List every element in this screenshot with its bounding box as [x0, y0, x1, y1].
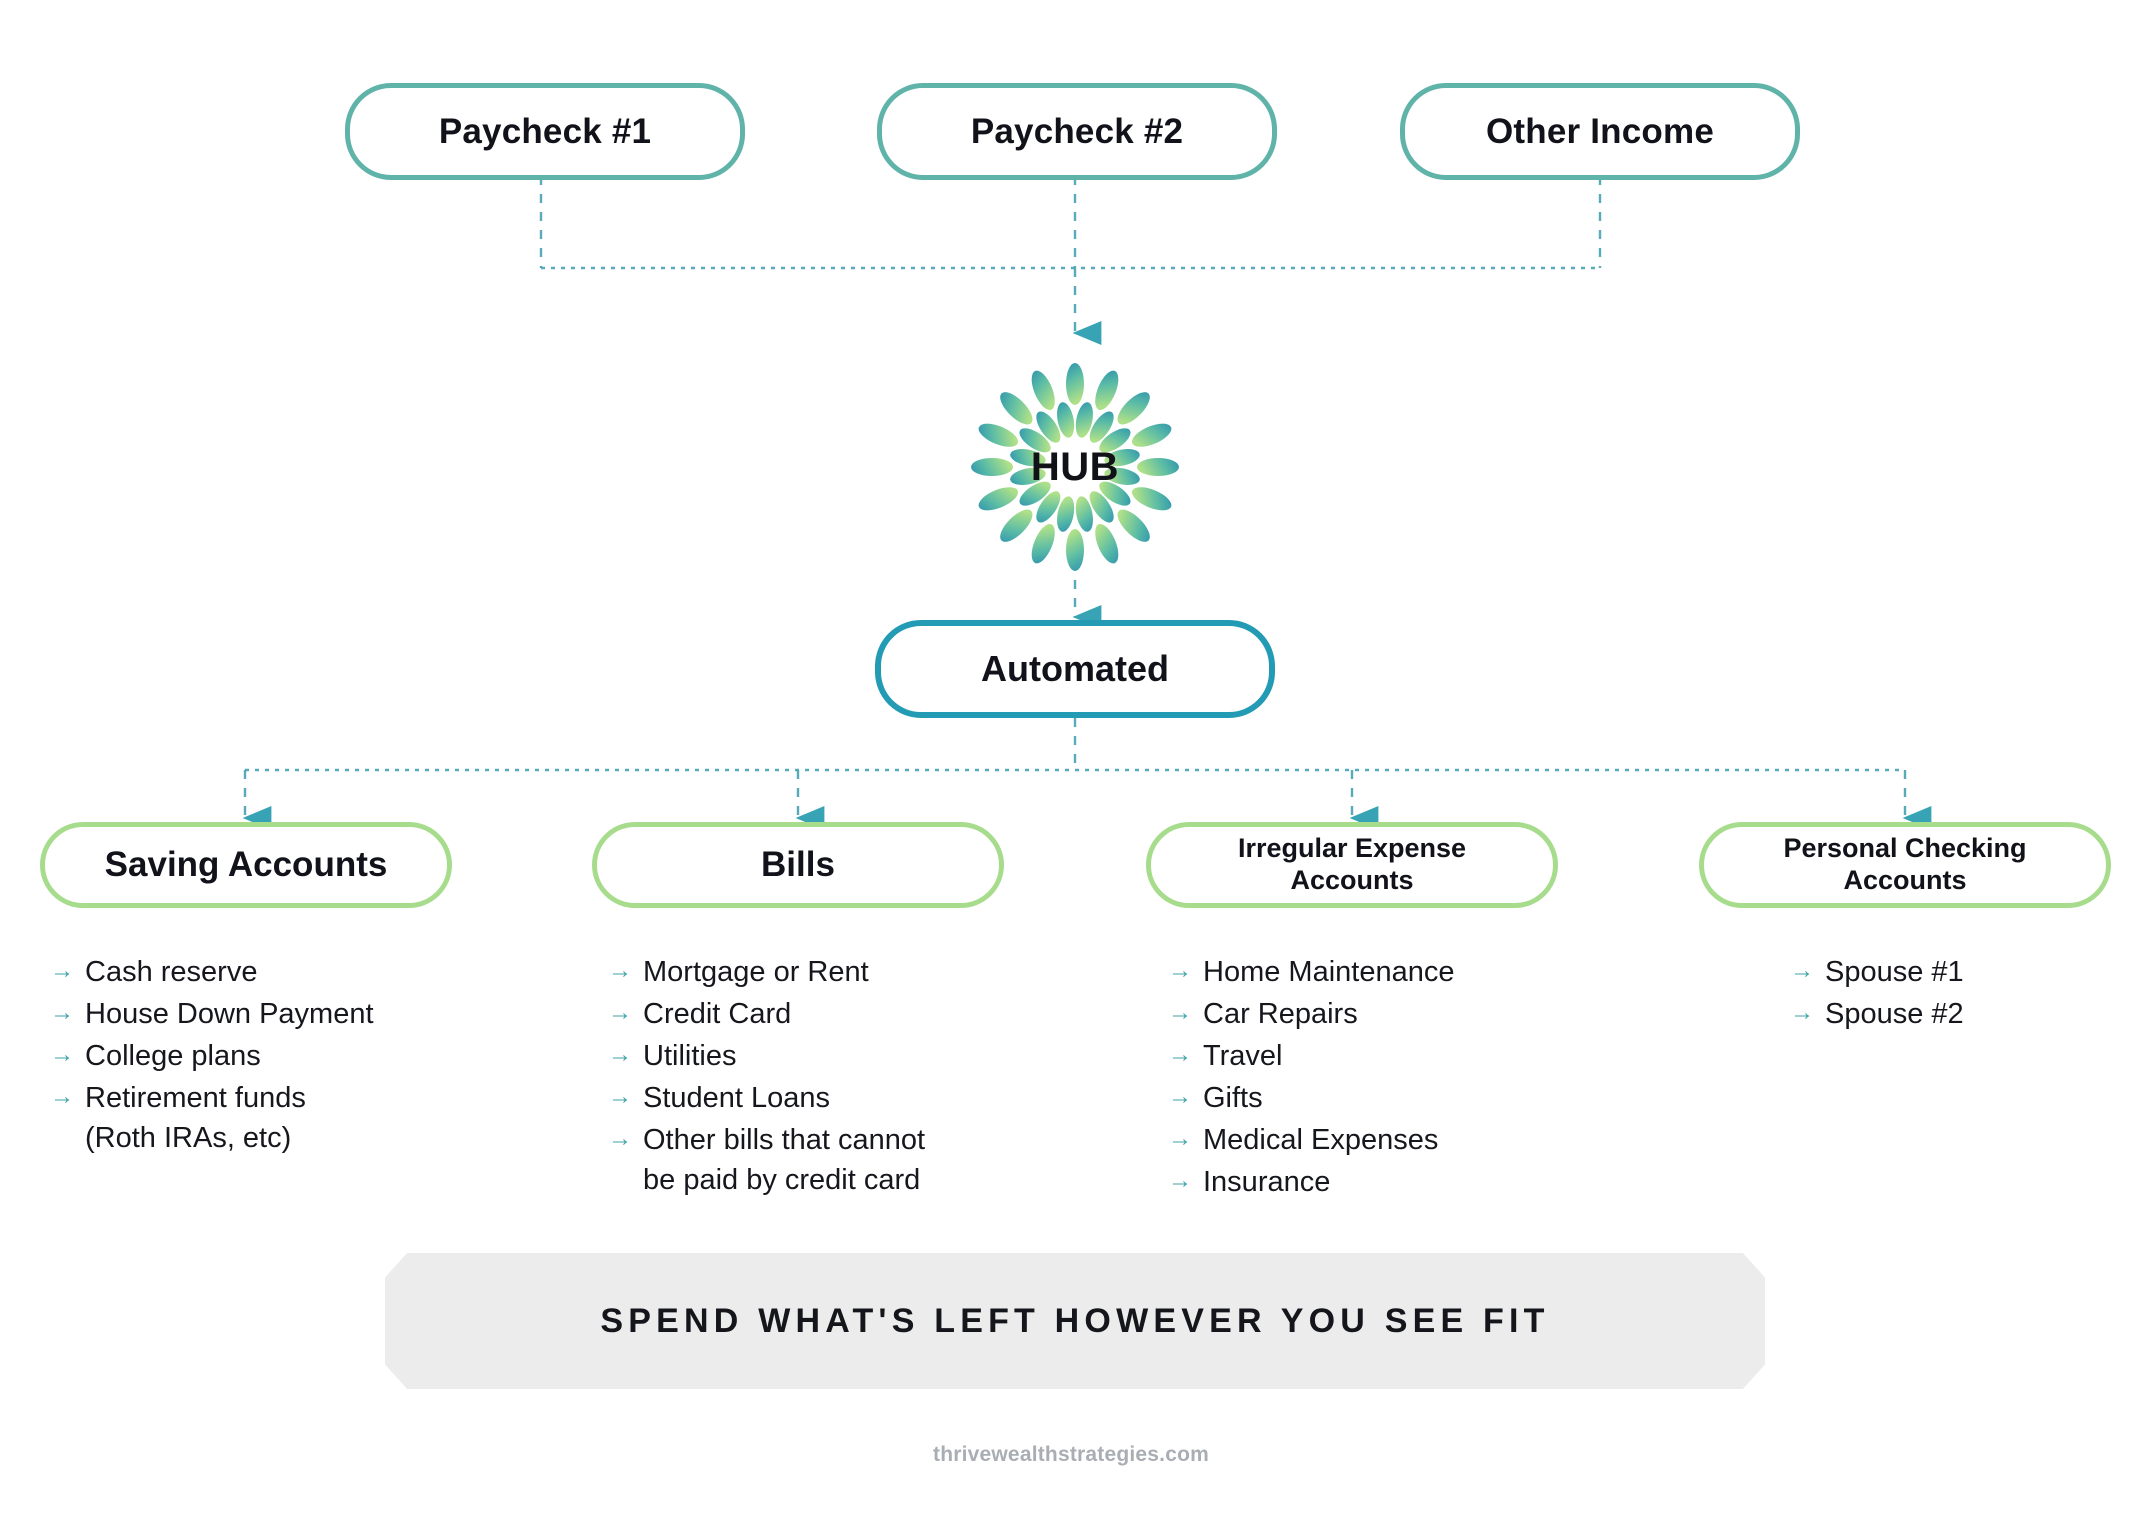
list-item: → College plans: [50, 1036, 470, 1076]
arrow-right-icon: →: [50, 1078, 74, 1115]
income-box-label: Paycheck #1: [439, 111, 651, 152]
automated-label: Automated: [981, 648, 1169, 690]
arrow-right-icon: →: [1168, 1078, 1192, 1115]
bucket-list-bills: → Mortgage or Rent → Credit Card → Utili…: [608, 952, 1038, 1202]
list-item: → House Down Payment: [50, 994, 470, 1034]
list-item: → Retirement funds (Roth IRAs, etc): [50, 1078, 470, 1158]
hub-node[interactable]: HUB: [970, 362, 1180, 572]
arrow-right-icon: →: [1168, 994, 1192, 1031]
list-item: → Spouse #2: [1790, 994, 2120, 1034]
arrow-right-icon: →: [50, 1036, 74, 1073]
arrow-right-icon: →: [608, 1120, 632, 1157]
bucket-label: Personal Checking Accounts: [1783, 833, 2026, 897]
list-item: → Utilities: [608, 1036, 1038, 1076]
bucket-box-personal-checking-accounts[interactable]: Personal Checking Accounts: [1699, 822, 2111, 908]
list-item: → Gifts: [1168, 1078, 1598, 1118]
bucket-label: Saving Accounts: [105, 844, 388, 885]
list-item-label: Medical Expenses: [1203, 1120, 1438, 1160]
arrow-right-icon: →: [608, 994, 632, 1031]
list-item: → Home Maintenance: [1168, 952, 1598, 992]
list-item-label: Home Maintenance: [1203, 952, 1454, 992]
list-item-label: House Down Payment: [85, 994, 374, 1034]
list-item-label: Credit Card: [643, 994, 791, 1034]
bucket-list-irregular-expense-accounts: → Home Maintenance → Car Repairs → Trave…: [1168, 952, 1598, 1204]
list-item-label: College plans: [85, 1036, 261, 1076]
list-item-label: Spouse #2: [1825, 994, 1964, 1034]
arrow-right-icon: →: [608, 952, 632, 989]
list-item: → Credit Card: [608, 994, 1038, 1034]
list-item: → Other bills that cannot be paid by cre…: [608, 1120, 1038, 1200]
bucket-list-personal-checking-accounts: → Spouse #1 → Spouse #2: [1790, 952, 2120, 1036]
bucket-box-irregular-expense-accounts[interactable]: Irregular Expense Accounts: [1146, 822, 1558, 908]
list-item-label: Spouse #1: [1825, 952, 1964, 992]
list-item-label: Travel: [1203, 1036, 1283, 1076]
bucket-list-saving-accounts: → Cash reserve → House Down Payment → Co…: [50, 952, 470, 1160]
bucket-box-saving-accounts[interactable]: Saving Accounts: [40, 822, 452, 908]
income-box-paycheck-1[interactable]: Paycheck #1: [345, 83, 745, 180]
list-item-label: Insurance: [1203, 1162, 1330, 1202]
bucket-box-bills[interactable]: Bills: [592, 822, 1004, 908]
income-box-label: Other Income: [1486, 111, 1714, 152]
spend-banner-text: SPEND WHAT'S LEFT HOWEVER YOU SEE FIT: [600, 1302, 1549, 1341]
footer-website: thrivewealthstrategies.com: [0, 1443, 2142, 1467]
income-box-paycheck-2[interactable]: Paycheck #2: [877, 83, 1277, 180]
income-box-other-income[interactable]: Other Income: [1400, 83, 1800, 180]
footer-website-text: thrivewealthstrategies.com: [933, 1443, 1209, 1466]
list-item-label: Retirement funds (Roth IRAs, etc): [85, 1078, 306, 1158]
arrow-right-icon: →: [1790, 994, 1814, 1031]
arrow-right-icon: →: [608, 1036, 632, 1073]
arrow-right-icon: →: [50, 994, 74, 1031]
arrow-right-icon: →: [50, 952, 74, 989]
list-item-label: Car Repairs: [1203, 994, 1358, 1034]
list-item-label: Other bills that cannot be paid by credi…: [643, 1120, 925, 1200]
diagram-canvas: Paycheck #1 Paycheck #2 Other Income: [0, 0, 2142, 1529]
arrow-right-icon: →: [1168, 952, 1192, 989]
list-item-label: Mortgage or Rent: [643, 952, 869, 992]
list-item: → Medical Expenses: [1168, 1120, 1598, 1160]
arrow-right-icon: →: [608, 1078, 632, 1115]
list-item-label: Cash reserve: [85, 952, 257, 992]
list-item: → Cash reserve: [50, 952, 470, 992]
list-item: → Insurance: [1168, 1162, 1598, 1202]
list-item-label: Student Loans: [643, 1078, 830, 1118]
bucket-label: Bills: [761, 844, 835, 885]
income-box-label: Paycheck #2: [971, 111, 1183, 152]
list-item: → Student Loans: [608, 1078, 1038, 1118]
list-item: → Car Repairs: [1168, 994, 1598, 1034]
list-item: → Mortgage or Rent: [608, 952, 1038, 992]
arrow-right-icon: →: [1168, 1036, 1192, 1073]
arrow-right-icon: →: [1168, 1162, 1192, 1199]
arrow-right-icon: →: [1168, 1120, 1192, 1157]
list-item: → Spouse #1: [1790, 952, 2120, 992]
list-item: → Travel: [1168, 1036, 1598, 1076]
hub-label: HUB: [970, 362, 1180, 572]
spend-banner: SPEND WHAT'S LEFT HOWEVER YOU SEE FIT: [385, 1253, 1765, 1389]
arrow-right-icon: →: [1790, 952, 1814, 989]
automated-box[interactable]: Automated: [875, 620, 1275, 718]
bucket-label: Irregular Expense Accounts: [1238, 833, 1466, 897]
list-item-label: Utilities: [643, 1036, 736, 1076]
list-item-label: Gifts: [1203, 1078, 1263, 1118]
